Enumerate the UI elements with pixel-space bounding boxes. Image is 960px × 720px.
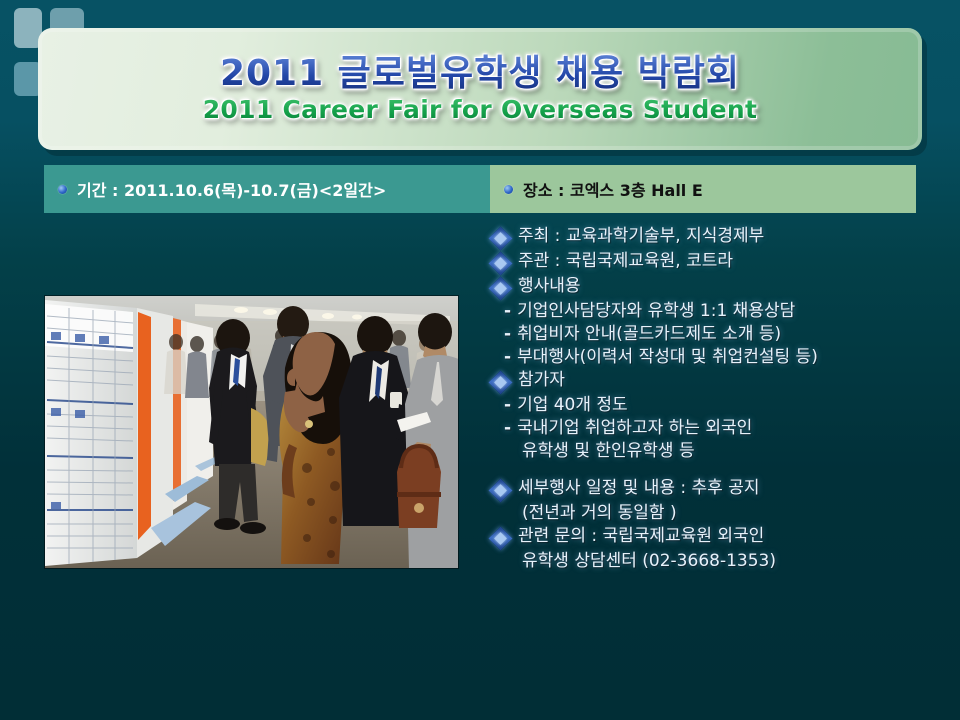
- list-item: 행사내용: [492, 278, 952, 297]
- list-item: 관련 문의 : 국립국제교육원 외국인: [492, 528, 952, 547]
- list-item-label: 행사내용: [518, 278, 581, 295]
- diamond-bullet-icon: [488, 276, 512, 300]
- list-item: 참가자: [492, 372, 952, 391]
- dash-bullet-icon: -: [504, 326, 511, 343]
- diamond-bullet-icon: [488, 370, 512, 394]
- list-item-label: 주최 : 교육과학기술부, 지식경제부: [518, 228, 764, 245]
- title-panel: 2011 글로벌유학생 채용 박람회 2011 Career Fair for …: [38, 28, 922, 150]
- dash-bullet-icon: -: [504, 397, 511, 414]
- dash-bullet-icon: -: [504, 420, 511, 437]
- list-item: -취업비자 안내(골드카드제도 소개 등): [492, 326, 952, 343]
- diamond-bullet-icon: [488, 226, 512, 250]
- list-item-label: 참가자: [518, 372, 565, 389]
- dash-bullet-icon: -: [504, 349, 511, 366]
- list-item: -국내기업 취업하고자 하는 외국인: [492, 420, 952, 437]
- list-item-label: (전년과 거의 동일함 ): [522, 505, 677, 522]
- list-item-label: 부대행사(이력서 작성대 및 취업컨설팅 등): [517, 349, 818, 366]
- list-item-label: 기업 40개 정도: [517, 397, 628, 414]
- venue-text: 장소 : 코엑스 3층 Hall E: [523, 177, 703, 201]
- diamond-bullet-icon: [488, 526, 512, 550]
- diamond-bullet-icon: [488, 478, 512, 502]
- list-item-label: 기업인사담당자와 유학생 1:1 채용상담: [517, 303, 795, 320]
- list-item: 주관 : 국립국제교육원, 코트라: [492, 253, 952, 272]
- dash-bullet-icon: -: [504, 303, 511, 320]
- career-fair-photo: [45, 296, 458, 568]
- list-item-label: 취업비자 안내(골드카드제도 소개 등): [517, 326, 781, 343]
- list-item: -부대행사(이력서 작성대 및 취업컨설팅 등): [492, 349, 952, 366]
- career-fair-photo-illustration: [45, 296, 458, 568]
- list-item: 유학생 상담센터 (02-3668-1353): [492, 553, 952, 570]
- list-item: -기업 40개 정도: [492, 397, 952, 414]
- list-item-label: 국내기업 취업하고자 하는 외국인: [517, 420, 752, 437]
- period-text: 기간 : 2011.10.6(목)-10.7(금)<2일간>: [77, 177, 386, 201]
- info-bar-row: 기간 : 2011.10.6(목)-10.7(금)<2일간> 장소 : 코엑스 …: [44, 165, 916, 213]
- list-item-label: 세부행사 일정 및 내용 : 추후 공지: [518, 480, 759, 497]
- list-item: 유학생 및 한인유학생 등: [492, 443, 952, 460]
- list-item-label: 관련 문의 : 국립국제교육원 외국인: [518, 528, 764, 545]
- event-detail-list: 주최 : 교육과학기술부, 지식경제부주관 : 국립국제교육원, 코트라행사내용…: [492, 228, 952, 576]
- list-item-label: 유학생 및 한인유학생 등: [522, 443, 695, 460]
- list-item: -기업인사담당자와 유학생 1:1 채용상담: [492, 303, 952, 320]
- dot-bullet-icon: [58, 185, 67, 194]
- title-korean: 2011 글로벌유학생 채용 박람회: [220, 53, 740, 94]
- presentation-slide: 2011 글로벌유학생 채용 박람회 2011 Career Fair for …: [0, 0, 960, 720]
- list-item-label: 주관 : 국립국제교육원, 코트라: [518, 253, 733, 270]
- info-bar-venue: 장소 : 코엑스 3층 Hall E: [490, 165, 916, 213]
- list-item: 세부행사 일정 및 내용 : 추후 공지: [492, 480, 952, 499]
- list-item: 주최 : 교육과학기술부, 지식경제부: [492, 228, 952, 247]
- dot-bullet-icon: [504, 185, 513, 194]
- list-item: (전년과 거의 동일함 ): [492, 505, 952, 522]
- info-bar-period: 기간 : 2011.10.6(목)-10.7(금)<2일간>: [44, 165, 490, 213]
- diamond-bullet-icon: [488, 251, 512, 275]
- title-english: 2011 Career Fair for Overseas Student: [203, 96, 758, 125]
- list-item-label: 유학생 상담센터 (02-3668-1353): [522, 553, 776, 570]
